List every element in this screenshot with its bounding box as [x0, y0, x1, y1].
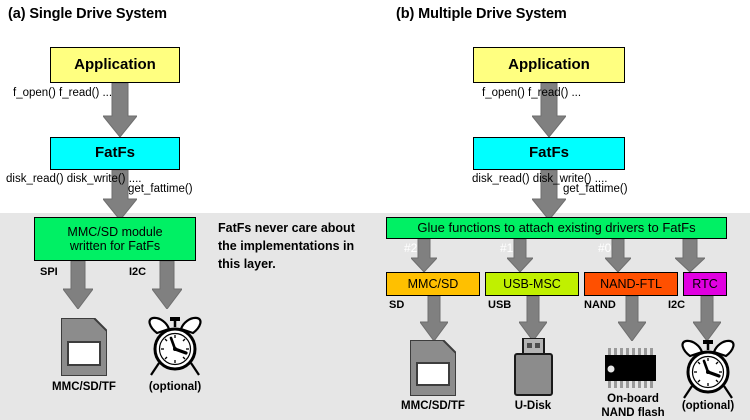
panel-a-fatfs-box[interactable]: FatFs [50, 137, 180, 170]
panel-b-arrow-i2c-bus [693, 296, 721, 341]
panel-b-application-box[interactable]: Application [473, 47, 625, 83]
panel-b-drive-number-nandftl: #0 [598, 241, 611, 255]
panel-b-driver-box-nandftl[interactable]: NAND-FTL [584, 272, 678, 296]
panel-a-device-label-card: MMC/SD/TF [34, 381, 134, 395]
panel-b-device-label-usb: U-Disk [483, 400, 583, 414]
panel-b-arrow-nand-bus [618, 296, 646, 341]
panel-a-app-api-labels: f_open() f_read() ... [13, 86, 112, 101]
panel-b-arrow-usb-bus [519, 296, 547, 341]
panel-a-fattime-api-label: get_fattime() [128, 182, 193, 197]
panel-b-arrow-glue-to-rtc [675, 239, 705, 272]
panel-b-title: (b) Multiple Drive System [396, 6, 567, 22]
panel-b-device-label-mmcsd: MMC/SD/TF [383, 400, 483, 414]
panel-a-application-box[interactable]: Application [50, 47, 180, 83]
panel-a-title: (a) Single Drive System [8, 6, 167, 22]
panel-a-bus-label-i2c: I2C [129, 266, 146, 278]
panel-b-bus-label-usb: USB [488, 299, 511, 311]
panel-b-app-api-labels: f_open() f_read() ... [482, 86, 581, 101]
panel-a-note: FatFs never care about the implementatio… [218, 220, 378, 273]
panel-a-arrow-i2c [152, 261, 182, 309]
diagram-canvas: (a) Single Drive System Application f_op… [0, 0, 750, 420]
panel-b-arrow-sd-bus [420, 296, 448, 341]
panel-a-device-label-clock: (optional) [130, 381, 220, 395]
panel-b-device-label-rtc: (optional) [663, 400, 750, 414]
panel-b-driver-box-usbmsc[interactable]: USB-MSC [485, 272, 579, 296]
panel-b-bus-label-i2c: I2C [668, 299, 685, 311]
alarm-clock-icon [678, 338, 738, 400]
sd-card-icon [410, 340, 456, 396]
panel-a-mmcsd-module-box[interactable]: MMC/SD module written for FatFs [34, 217, 196, 261]
panel-b-drive-number-usbmsc: #1 [500, 241, 513, 255]
sd-card-icon [61, 318, 107, 376]
panel-b-bus-label-sd: SD [389, 299, 404, 311]
panel-a-bus-label-spi: SPI [40, 266, 58, 278]
usb-drive-icon [510, 338, 556, 396]
panel-a-disk-api-labels: disk_read() disk_write() .... [6, 172, 141, 187]
panel-b-driver-box-mmcsd[interactable]: MMC/SD [386, 272, 480, 296]
panel-b-drive-number-mmcsd: #2 [404, 241, 417, 255]
nand-chip-icon [603, 348, 663, 388]
alarm-clock-icon [145, 315, 205, 377]
panel-b-fatfs-box[interactable]: FatFs [473, 137, 625, 170]
panel-b-fattime-api-label: get_fattime() [563, 182, 628, 197]
panel-a-arrow-spi [63, 261, 93, 309]
panel-b-bus-label-nand: NAND [584, 299, 616, 311]
panel-b-glue-box[interactable]: Glue functions to attach existing driver… [386, 217, 727, 239]
panel-b-driver-box-rtc[interactable]: RTC [683, 272, 727, 296]
